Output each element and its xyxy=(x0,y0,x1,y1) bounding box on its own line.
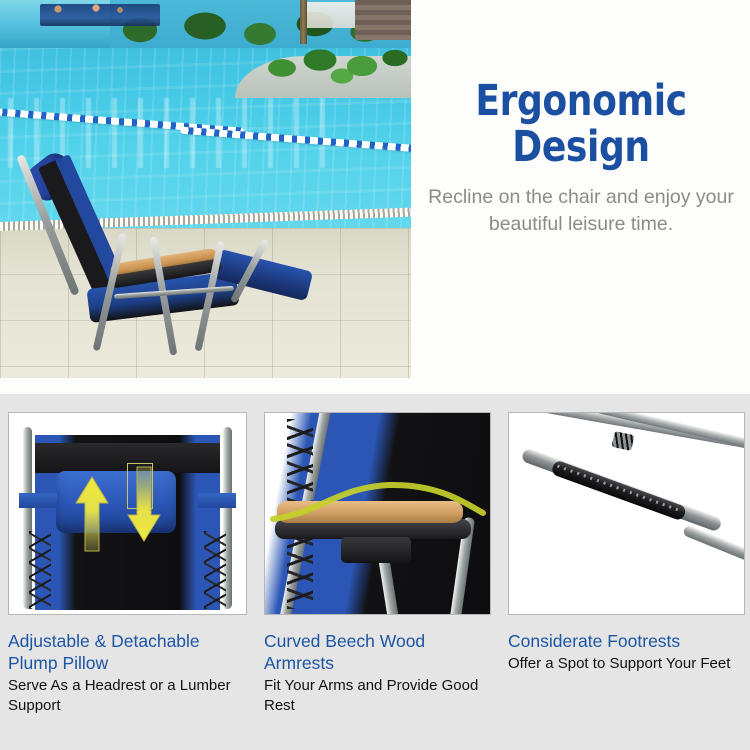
background-people xyxy=(48,0,138,16)
feature-body: Offer a Spot to Support Your Feet xyxy=(508,654,745,674)
arrow-down-icon xyxy=(127,465,161,543)
hero-product-photo xyxy=(0,0,411,378)
hero-title-line-1: Ergonomic xyxy=(450,78,712,124)
hero-copy: Ergonomic Design Recline on the chair an… xyxy=(425,78,737,238)
curve-highlight-icon xyxy=(269,479,489,525)
bungee-lacing-right xyxy=(204,531,226,609)
product-feature-page: Ergonomic Design Recline on the chair an… xyxy=(0,0,750,750)
hero-title: Ergonomic Design xyxy=(450,78,712,170)
pillow-strap-right xyxy=(198,493,236,508)
hero-subtitle: Recline on the chair and enjoy your beau… xyxy=(425,184,737,238)
feature-body: Serve As a Headrest or a Lumber Support xyxy=(8,676,247,716)
feature-title: Curved Beech Wood Armrests xyxy=(264,630,491,674)
pillow-strap-left xyxy=(19,493,57,508)
feature-body: Fit Your Arms and Provide Good Rest xyxy=(264,676,491,716)
poolside-planter xyxy=(262,30,411,86)
hero-section: Ergonomic Design Recline on the chair an… xyxy=(0,0,750,394)
feature-caption: Adjustable & Detachable Plump Pillow Ser… xyxy=(8,630,247,716)
feature-caption: Considerate Footrests Offer a Spot to Su… xyxy=(508,630,745,674)
feature-caption: Curved Beech Wood Armrests Fit Your Arms… xyxy=(264,630,491,716)
armrest-bracket xyxy=(341,537,411,563)
feature-title: Considerate Footrests xyxy=(508,630,745,652)
arrow-up-icon xyxy=(75,475,109,553)
bungee-lacing-left xyxy=(29,531,51,609)
feature-card-list: Adjustable & Detachable Plump Pillow Ser… xyxy=(0,394,750,750)
zero-gravity-chair xyxy=(10,140,310,365)
feature-thumbnail-pillow xyxy=(8,412,247,615)
hero-title-line-2: Design xyxy=(450,124,712,170)
feature-thumbnail-armrest xyxy=(264,412,491,615)
feature-card-footrest: Considerate Footrests Offer a Spot to Su… xyxy=(508,412,745,674)
feature-band: Adjustable & Detachable Plump Pillow Ser… xyxy=(0,394,750,750)
feature-title: Adjustable & Detachable Plump Pillow xyxy=(8,630,247,674)
feature-card-pillow: Adjustable & Detachable Plump Pillow Ser… xyxy=(8,412,247,716)
feature-thumbnail-footrest xyxy=(508,412,745,615)
palm-trunk xyxy=(300,0,307,44)
feature-card-armrest: Curved Beech Wood Armrests Fit Your Arms… xyxy=(264,412,491,716)
